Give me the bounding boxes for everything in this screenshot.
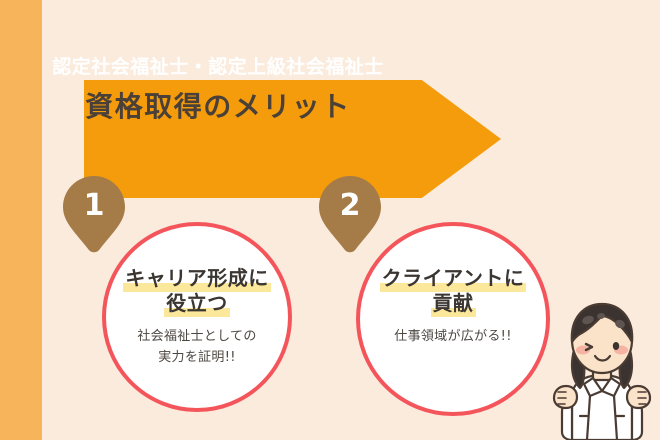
header-banner: 認定社会福祉士・認定上級社会福祉士 資格取得のメリット [42, 40, 459, 158]
benefit-subtitle-line: 社会福祉士としての [106, 326, 288, 347]
benefit-title-line: 役立つ [106, 291, 288, 315]
benefit-subtitle-1: 社会福祉士としての 実力を証明!! [106, 326, 288, 369]
banner-title: 資格取得のメリット [42, 90, 394, 124]
benefit-title-1-line-1: キャリア形成に [123, 266, 271, 292]
benefit-circle-1: キャリア形成に 役立つ 社会福祉士としての 実力を証明!! [102, 222, 292, 412]
benefit-title-1-line-2: 役立つ [164, 291, 230, 317]
eye-right [613, 342, 619, 350]
benefit-title-2-line-2: 貢献 [431, 291, 476, 317]
fist-left [554, 386, 577, 408]
fist-right [627, 386, 650, 408]
left-accent-stripe [0, 0, 42, 440]
infographic-canvas: 認定社会福祉士・認定上級社会福祉士 資格取得のメリット キャリア形成に 役立つ … [0, 0, 660, 440]
benefit-title-line: 貢献 [360, 291, 546, 315]
banner-subtitle: 認定社会福祉士・認定上級社会福祉士 [42, 56, 394, 79]
benefit-circle-2: クライアントに 貢献 仕事領域が広がる!! [356, 222, 550, 416]
benefit-title-line: キャリア形成に [106, 266, 288, 290]
benefit-title-line: クライアントに [360, 266, 546, 290]
benefit-title-2-line-1: クライアントに [380, 266, 527, 292]
caregiver-character-illustration [544, 292, 660, 440]
benefit-subtitle-line: 実力を証明!! [106, 347, 288, 368]
benefit-subtitle-2: 仕事領域が広がる!! [360, 326, 546, 347]
benefit-subtitle-line: 仕事領域が広がる!! [360, 326, 546, 347]
